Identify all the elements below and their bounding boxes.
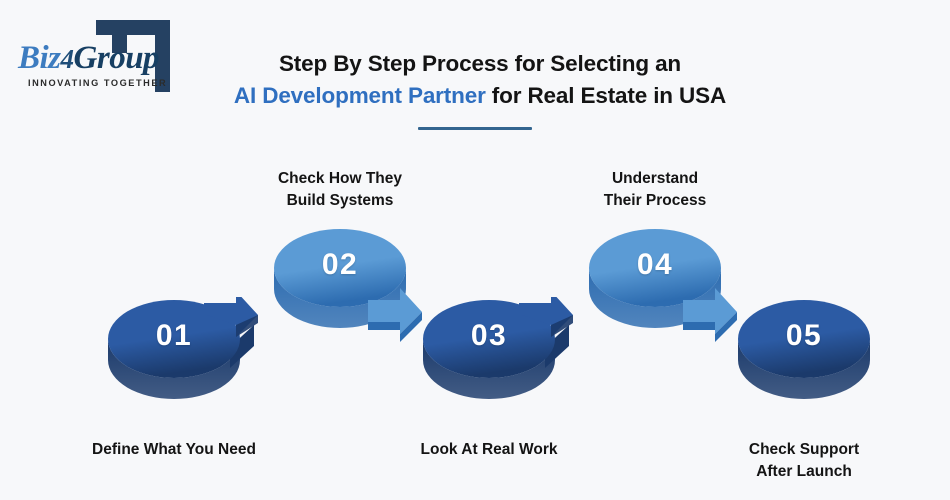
step-03-caption: Look At Real Work — [359, 439, 619, 461]
step-05[interactable]: 05Check Support After Launch — [738, 297, 898, 422]
step-02-caption: Check How They Build Systems — [210, 168, 470, 212]
step-03[interactable]: 03Look At Real Work — [423, 297, 583, 422]
step-05-caption: Check Support After Launch — [674, 439, 934, 483]
process-steps: 01Define What You Need 02Check How They … — [0, 0, 950, 500]
step-04-caption: Understand Their Process — [525, 168, 785, 212]
step-01[interactable]: 01Define What You Need — [108, 297, 268, 422]
step-01-caption: Define What You Need — [44, 439, 304, 461]
step-04[interactable]: 04Understand Their Process — [589, 226, 749, 351]
step-02[interactable]: 02Check How They Build Systems — [274, 226, 434, 351]
